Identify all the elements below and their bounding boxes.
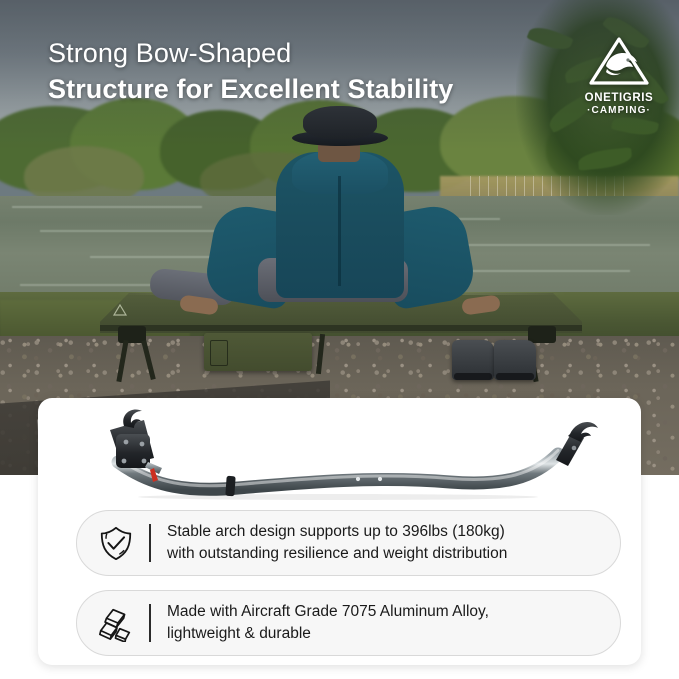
hiking-boot (494, 340, 536, 380)
brand-logo: ONETIGRIS ·CAMPING· (576, 36, 662, 118)
feature-card: Stable arch design supports up to 396lbs… (38, 398, 641, 665)
feature-text: Made with Aircraft Grade 7075 Aluminum A… (167, 601, 489, 645)
hiking-boot (452, 340, 494, 380)
feature-pill-stability: Stable arch design supports up to 396lbs… (76, 510, 621, 576)
feature-text-line-2: with outstanding resilience and weight d… (167, 543, 507, 565)
product-image-bow-bar (58, 404, 618, 500)
shield-check-icon (95, 522, 137, 564)
jacket-seam (338, 176, 341, 286)
headline-line-2: Structure for Excellent Stability (48, 72, 608, 106)
headline-line-1: Strong Bow-Shaped (48, 36, 608, 70)
feature-text-line-1: Made with Aircraft Grade 7075 Aluminum A… (167, 601, 489, 623)
feature-text: Stable arch design supports up to 396lbs… (167, 521, 507, 565)
pill-divider (149, 604, 151, 642)
cot-brand-mark-icon (112, 303, 128, 315)
feature-text-line-1: Stable arch design supports up to 396lbs… (167, 521, 507, 543)
cot-side-rail (100, 325, 582, 331)
feature-pill-material: Made with Aircraft Grade 7075 Aluminum A… (76, 590, 621, 656)
feature-text-line-2: lightweight & durable (167, 623, 489, 645)
metal-ingots-icon (95, 602, 137, 644)
logo-wordmark: ONETIGRIS (576, 92, 662, 105)
cot-bracket-right (528, 326, 556, 343)
under-cot-storage-bag (204, 333, 312, 371)
pill-divider (149, 524, 151, 562)
tiger-triangle-icon (588, 36, 650, 86)
infographic-root: Strong Bow-Shaped Structure for Excellen… (0, 0, 679, 679)
logo-subtitle: ·CAMPING· (576, 105, 662, 116)
page-title: Strong Bow-Shaped Structure for Excellen… (48, 36, 608, 106)
